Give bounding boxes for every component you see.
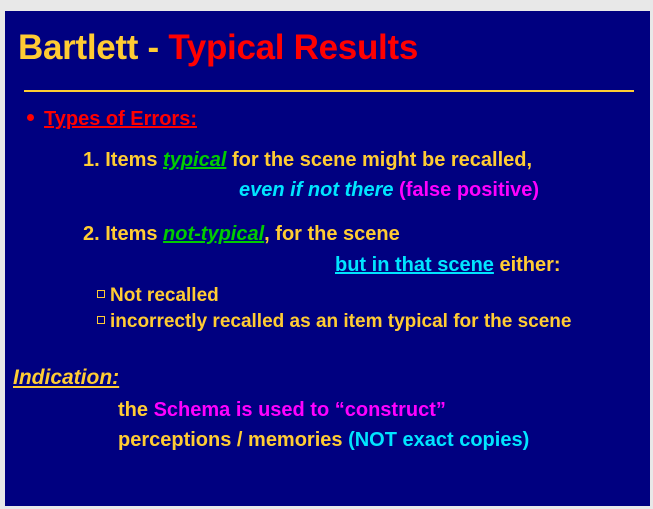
square-bullet-icon <box>97 290 105 298</box>
numbered-item-1-line-2: even if not there (false positive) <box>239 179 539 202</box>
title-part-red: Typical Results <box>168 28 418 67</box>
slide-title: Bartlett - Typical Results <box>18 29 418 68</box>
item-1-cyan-phrase: even if not there <box>239 179 393 201</box>
numbered-item-2-line-1: 2. Items not-typical, for the scene <box>83 223 400 246</box>
title-part-yellow: Bartlett - <box>18 28 168 67</box>
conclusion-1-gold: the <box>118 399 154 421</box>
round-bullet-icon <box>27 114 34 121</box>
conclusion-2-gold: perceptions / memories <box>118 429 348 451</box>
sub-bullet-label-1: Not recalled <box>110 285 219 307</box>
item-2-tail: , for the scene <box>264 223 400 245</box>
numbered-item-1-line-1: 1. Items typical for the scene might be … <box>83 149 532 172</box>
item-1-emphasis: typical <box>163 149 226 171</box>
bullet-label-types-of-errors: Types of Errors: <box>44 108 197 131</box>
conclusion-1-magenta: Schema is used to “construct” <box>154 399 446 421</box>
indication-heading: Indication: <box>13 366 119 390</box>
item-1-magenta-phrase: (false positive) <box>393 179 539 201</box>
square-bullet-icon <box>97 316 105 324</box>
item-1-lead: 1. Items <box>83 149 163 171</box>
conclusion-2-cyan: (NOT exact copies) <box>348 429 529 451</box>
presentation-slide: Bartlett - Typical Results Types of Erro… <box>5 11 650 506</box>
item-1-tail: for the scene might be recalled, <box>226 149 532 171</box>
item-2-cyan-phrase: but in that scene <box>335 254 494 276</box>
conclusion-line-2: perceptions / memories (NOT exact copies… <box>118 429 529 452</box>
bullet-types-of-errors: Types of Errors: <box>27 108 197 131</box>
item-2-emphasis: not-typical <box>163 223 264 245</box>
item-2-gold-phrase: either: <box>494 254 561 276</box>
slide-frame: Bartlett - Typical Results Types of Erro… <box>0 0 653 509</box>
numbered-item-2-line-2: but in that scene either: <box>335 254 561 277</box>
item-2-lead: 2. Items <box>83 223 163 245</box>
sub-bullet-label-2: incorrectly recalled as an item typical … <box>110 311 571 333</box>
sub-bullet-not-recalled: Not recalled <box>97 285 219 307</box>
sub-bullet-incorrectly-recalled: incorrectly recalled as an item typical … <box>97 311 571 333</box>
conclusion-line-1: the Schema is used to “construct” <box>118 399 446 422</box>
title-divider <box>24 90 634 92</box>
